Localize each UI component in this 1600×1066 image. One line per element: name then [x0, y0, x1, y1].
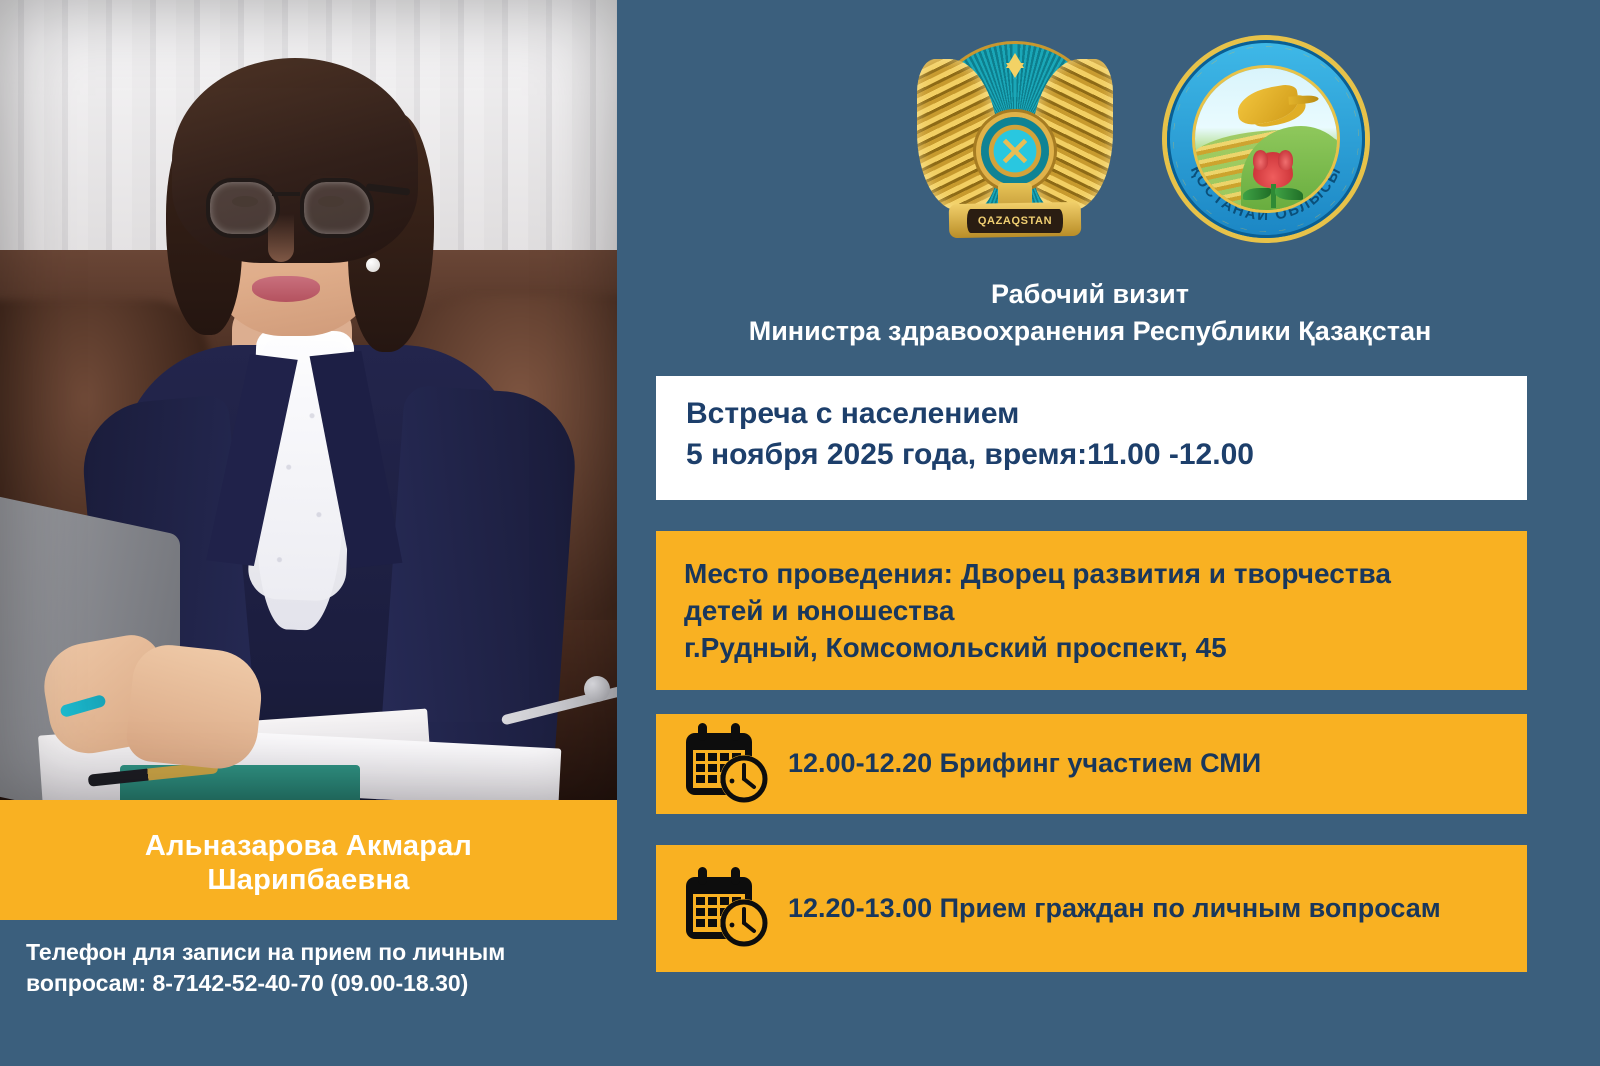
kostanay-oblast-emblem-icon: ҚОСТАНАЙ ОБЛЫСЫ: [1167, 40, 1365, 238]
meeting-text: Встреча с населением 5 ноября 2025 года,…: [686, 394, 1497, 476]
schedule-text-reception: 12.20-13.00 Прием граждан по личным вопр…: [788, 891, 1441, 926]
contact-phone-note: Телефон для записи на прием по личным во…: [26, 937, 606, 999]
state-emblem-star-icon: [1006, 53, 1024, 68]
header-line-1: Рабочий визит: [640, 276, 1540, 313]
portrait-photo: [0, 0, 617, 810]
person-name-line-1: Альназарова Акмарал: [145, 830, 472, 864]
kazakhstan-state-emblem-icon: QAZAQSTAN: [915, 33, 1115, 245]
person-name-line-2: Шарипбаевна: [145, 864, 472, 898]
photo-vignette: [0, 0, 617, 810]
meeting-line-1: Встреча с населением: [686, 394, 1497, 435]
oblast-emblem-bird-icon: [1235, 83, 1302, 127]
schedule-row-briefing: 12.00-12.20 Брифинг участием СМИ: [656, 714, 1527, 814]
venue-info-box: Место проведения: Дворец развития и твор…: [656, 531, 1527, 690]
state-emblem-shanyrak: [981, 117, 1049, 185]
calendar-clock-icon: [680, 863, 772, 954]
schedule-row-reception: 12.20-13.00 Прием граждан по личным вопр…: [656, 845, 1527, 972]
meeting-line-2: 5 ноября 2025 года, время:11.00 -12.00: [686, 435, 1497, 476]
venue-line-3: г.Рудный, Комсомольский проспект, 45: [684, 629, 1499, 666]
emblem-row: QAZAQSTAN ҚОСТАНАЙ ОБЛЫСЫ: [900, 24, 1380, 254]
person-name: Альназарова Акмарал Шарипбаевна: [145, 830, 472, 898]
schedule-text-briefing: 12.00-12.20 Брифинг участием СМИ: [788, 746, 1261, 781]
state-emblem-ribbon-plate: QAZAQSTAN: [967, 209, 1063, 233]
venue-text: Место проведения: Дворец развития и твор…: [684, 555, 1499, 667]
poster-header: Рабочий визит Министра здравоохранения Р…: [640, 276, 1540, 351]
state-emblem-ribbon-text: QAZAQSTAN: [978, 215, 1052, 227]
person-name-banner: Альназарова Акмарал Шарипбаевна: [0, 808, 617, 920]
oblast-emblem-tulip-icon: [1253, 152, 1293, 188]
venue-line-1: Место проведения: Дворец развития и твор…: [684, 555, 1499, 592]
announcement-poster: Альназарова Акмарал Шарипбаевна Телефон …: [0, 0, 1600, 1066]
calendar-clock-icon: [680, 719, 772, 810]
meeting-info-box: Встреча с населением 5 ноября 2025 года,…: [656, 376, 1527, 500]
oblast-emblem-inner-shield: [1195, 68, 1337, 210]
venue-line-2: детей и юношества: [684, 592, 1499, 629]
header-line-2: Министра здравоохранения Республики Қаза…: [640, 313, 1540, 350]
contact-line-2: вопросам: 8-7142-52-40-70 (09.00-18.30): [26, 968, 606, 999]
contact-line-1: Телефон для записи на прием по личным: [26, 937, 606, 968]
